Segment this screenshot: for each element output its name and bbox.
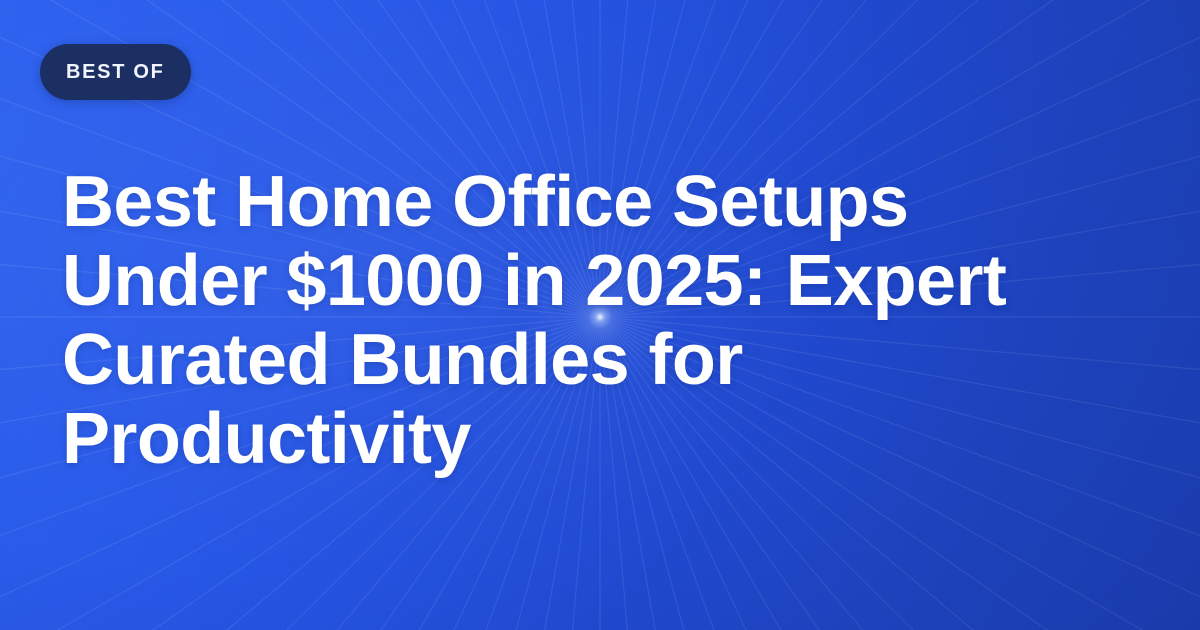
card-content: BEST OF Best Home Office Setups Under $1…: [0, 0, 1200, 630]
badge-label: BEST OF: [66, 62, 165, 82]
best-of-badge: BEST OF: [40, 44, 191, 100]
social-share-card: BEST OF Best Home Office Setups Under $1…: [0, 0, 1200, 630]
page-title: Best Home Office Setups Under $1000 in 2…: [62, 163, 1132, 479]
